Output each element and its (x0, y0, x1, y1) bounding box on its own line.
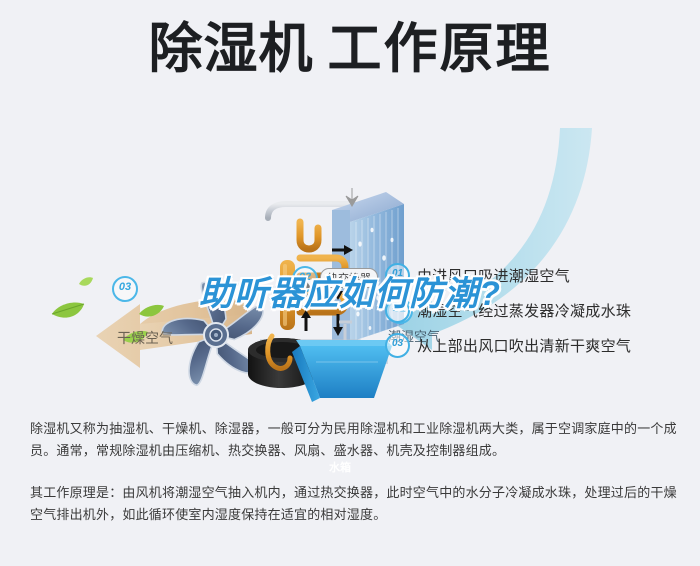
list-item: 02 潮湿空气经过蒸发器冷凝成水珠 (385, 293, 695, 328)
badge-dry-air: 03 (112, 276, 138, 302)
process-step-list: 01 由进风口吸进潮湿空气 02 潮湿空气经过蒸发器冷凝成水珠 03 从上部出风… (385, 258, 695, 363)
step-number-badge: 03 (385, 333, 410, 358)
page-root: 除湿机工作原理 (0, 0, 700, 566)
list-item: 01 由进风口吸进潮湿空气 (385, 258, 695, 293)
label-dry-air: 干燥空气 (117, 328, 173, 348)
step-number-badge: 01 (385, 263, 410, 288)
page-title-part1: 除湿机 (149, 19, 314, 79)
page-header: 除湿机工作原理 (0, 22, 700, 76)
badge-heat-exchanger: 02 (292, 266, 318, 292)
page-title: 除湿机工作原理 (0, 22, 700, 76)
list-item: 03 从上部出风口吹出清新干爽空气 (385, 328, 695, 363)
step-description: 由进风口吸进潮湿空气 (417, 265, 570, 286)
body-paragraph-1: 除湿机又称为抽湿机、干燥机、除湿器，一般可分为民用除湿机和工业除湿机两大类，属于… (30, 418, 678, 462)
label-heat-exchanger: 热交换器 (320, 268, 378, 288)
body-paragraph-2: 其工作原理是：由风机将潮湿空气抽入机内，通过热交换器，此时空气中的水分子冷凝成水… (30, 482, 678, 526)
water-tank (292, 340, 392, 402)
page-title-part2: 工作原理 (328, 19, 552, 79)
step-description: 从上部出风口吹出清新干爽空气 (417, 335, 631, 356)
refrigerant-cylinder (280, 260, 295, 330)
article-body: 除湿机又称为抽湿机、干燥机、除湿器，一般可分为民用除湿机和工业除湿机两大类，属于… (30, 418, 678, 526)
step-description: 潮湿空气经过蒸发器冷凝成水珠 (417, 300, 631, 321)
step-number-badge: 02 (385, 298, 410, 323)
